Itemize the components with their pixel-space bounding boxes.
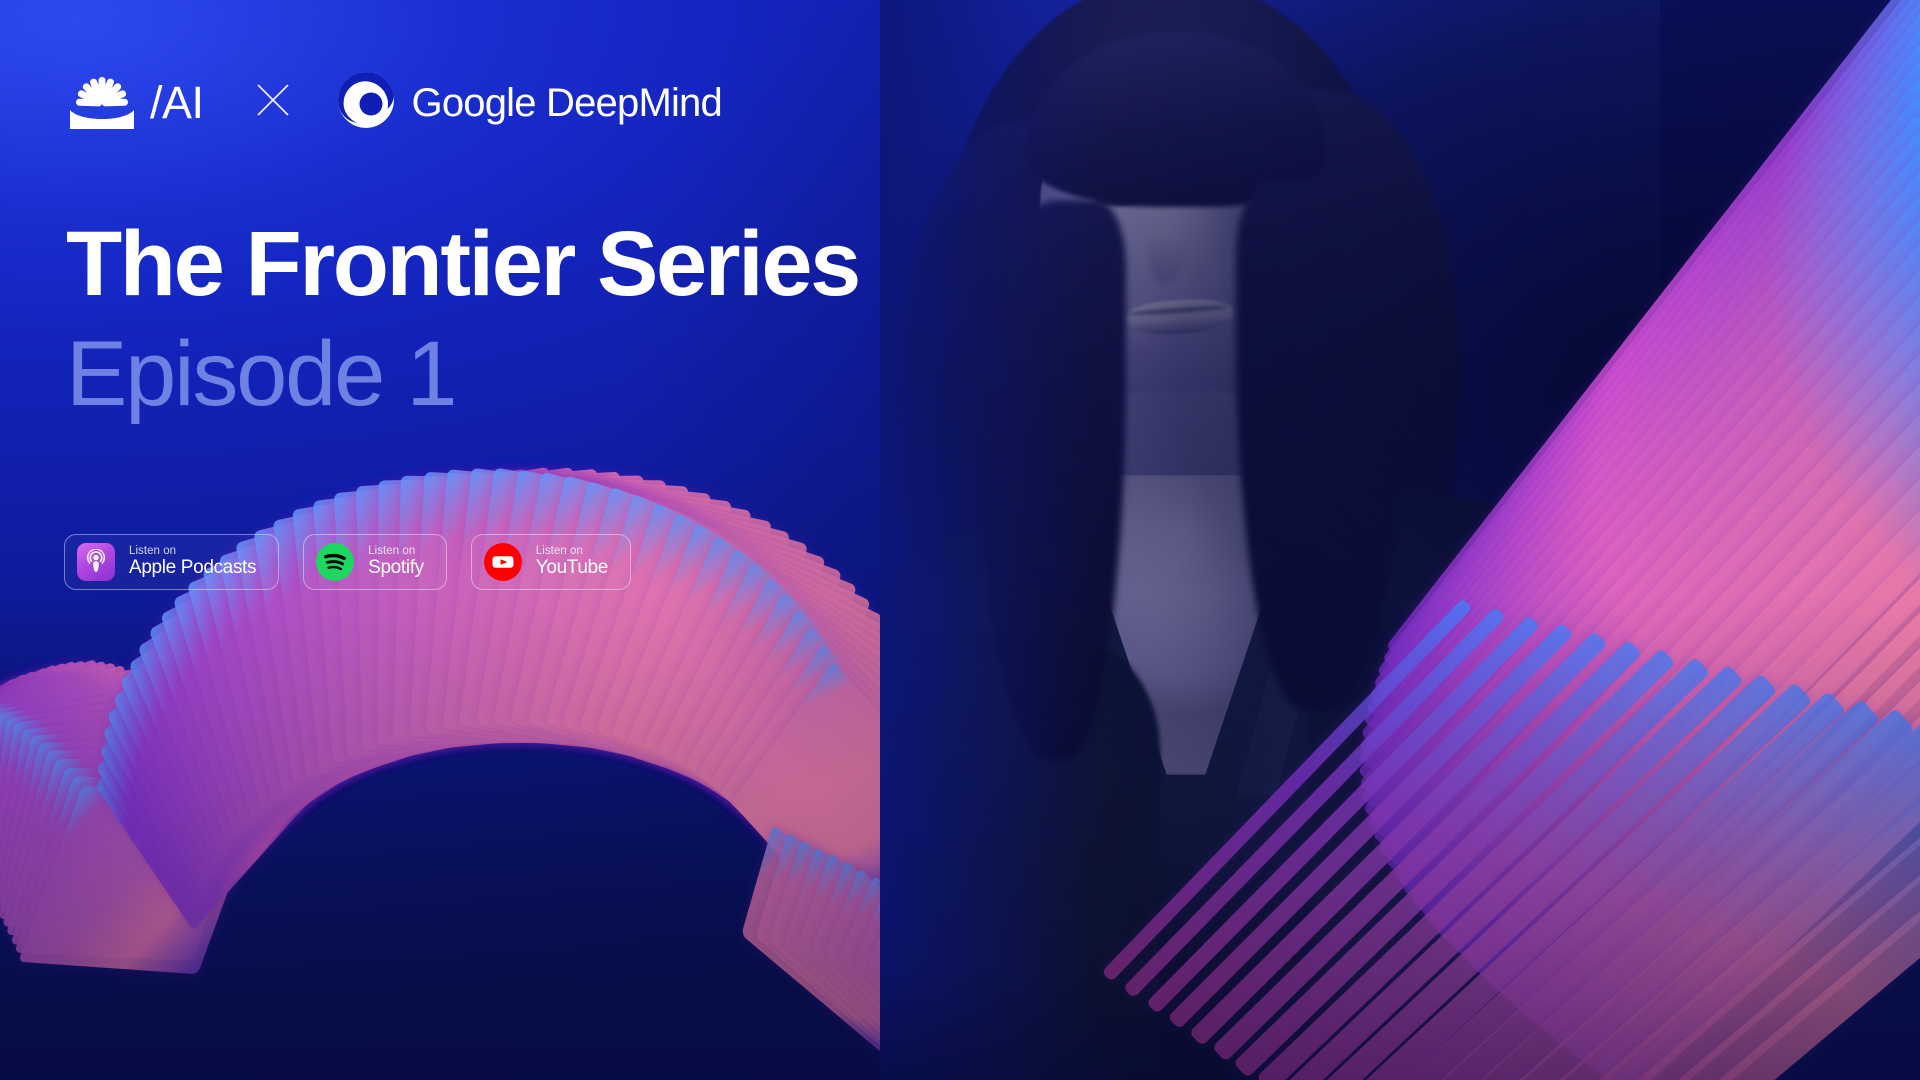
listen-links-row: Listen on Apple Podcasts Listen on Spoti… xyxy=(64,534,631,590)
right-brand-name: Google DeepMind xyxy=(412,83,722,123)
spotify-pre-label: Listen on xyxy=(368,545,424,557)
deepmind-spiral-icon xyxy=(338,72,394,133)
listen-on-youtube-button[interactable]: Listen on YouTube xyxy=(471,534,631,590)
apple-podcasts-icon xyxy=(77,543,115,581)
x-cross-icon xyxy=(256,83,290,122)
spotify-name: Spotify xyxy=(368,557,424,580)
right-brand-lockup[interactable]: Google DeepMind xyxy=(338,72,722,133)
youtube-icon xyxy=(484,543,522,581)
hero-text-block: The Frontier Series Episode 1 xyxy=(66,218,859,420)
spotify-labels: Listen on Spotify xyxy=(368,545,424,580)
left-brand-wordmark: /AI xyxy=(150,80,204,125)
listen-on-spotify-button[interactable]: Listen on Spotify xyxy=(303,534,447,590)
brand-header: /AI xyxy=(66,72,722,133)
youtube-labels: Listen on YouTube xyxy=(536,545,608,580)
left-brand-lockup[interactable]: /AI xyxy=(66,77,204,129)
apple-podcasts-pre-label: Listen on xyxy=(129,545,256,557)
apple-podcasts-name: Apple Podcasts xyxy=(129,557,256,580)
youtube-pre-label: Listen on xyxy=(536,545,608,557)
promo-banner: /AI xyxy=(0,0,1920,1080)
apple-podcasts-labels: Listen on Apple Podcasts xyxy=(129,545,256,580)
youtube-name: YouTube xyxy=(536,557,608,580)
fan-sunburst-icon xyxy=(66,77,138,129)
listen-on-apple-podcasts-button[interactable]: Listen on Apple Podcasts xyxy=(64,534,279,590)
spotify-icon xyxy=(316,543,354,581)
hero-subtitle: Episode 1 xyxy=(66,328,859,420)
hero-title: The Frontier Series xyxy=(66,218,859,310)
